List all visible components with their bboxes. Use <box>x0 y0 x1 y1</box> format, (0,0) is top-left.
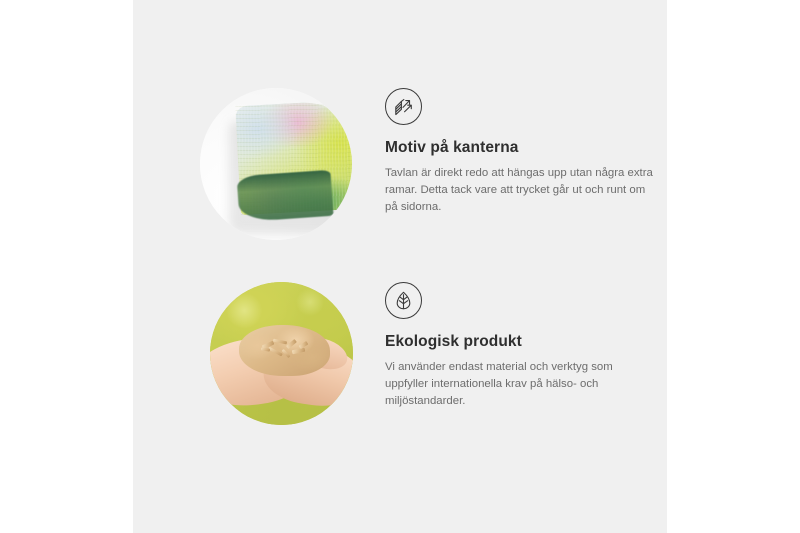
wood-chip <box>273 339 287 345</box>
feature-title: Ekologisk produkt <box>385 333 667 352</box>
canvas-wrapped-edge <box>237 170 334 222</box>
feature-text-eco: Ekologisk produkt Vi använder endast mat… <box>385 282 667 411</box>
feature-description: Vi använder endast material och verktyg … <box>385 359 653 411</box>
wood-chips-pile <box>239 325 331 376</box>
eco-photo-scene <box>210 282 353 425</box>
feature-list: Motiv på kanterna Tavlan är direkt redo … <box>133 0 667 533</box>
leaf-icon <box>385 282 422 319</box>
wood-chip <box>291 347 304 353</box>
canvas-print-corner-photo <box>200 88 352 240</box>
product-feature-panel: Motiv på kanterna Tavlan är direkt redo … <box>0 0 800 533</box>
feature-title: Motiv på kanterna <box>385 139 667 158</box>
canvas-photo-scene <box>200 88 352 240</box>
feature-text-edges: Motiv på kanterna Tavlan är direkt redo … <box>385 88 667 217</box>
hands-with-wood-chips-photo <box>210 282 353 425</box>
wood-chip <box>286 339 297 349</box>
feature-description: Tavlan är direkt redo att hängas upp uta… <box>385 165 653 217</box>
canvas-wrapped-edges-icon <box>385 88 422 125</box>
wood-chip <box>260 347 269 351</box>
wood-chip <box>268 346 282 356</box>
